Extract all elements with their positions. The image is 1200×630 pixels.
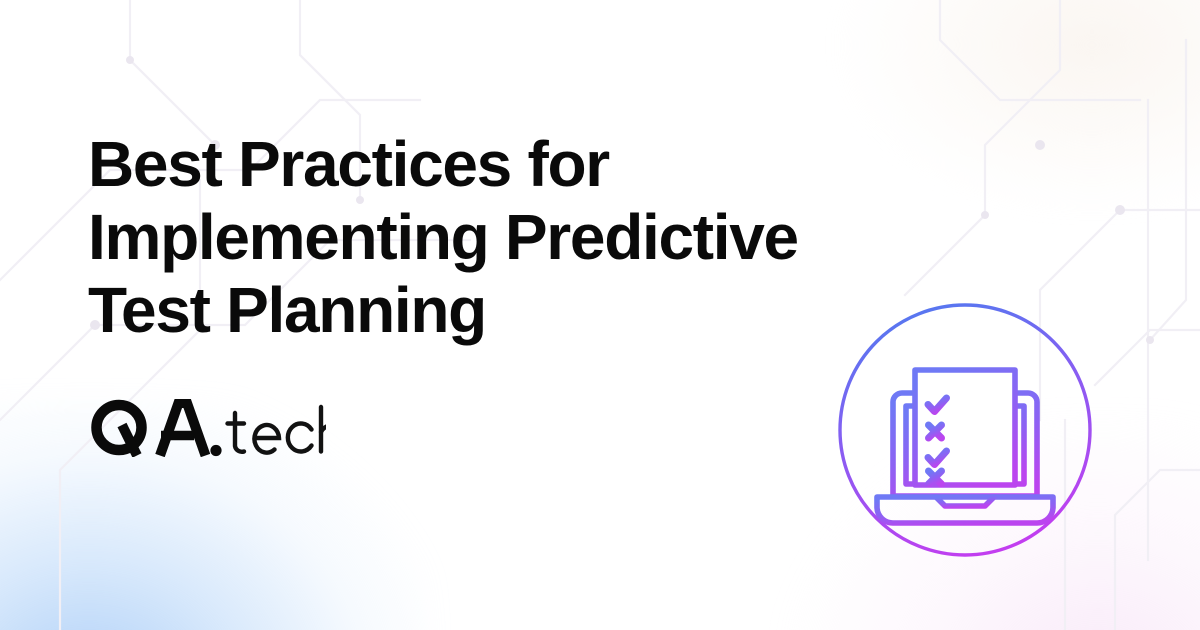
social-share-card: Best Practices for Implementing Predicti… bbox=[0, 0, 1200, 630]
laptop-checklist-icon bbox=[877, 370, 1053, 523]
page-title: Best Practices for Implementing Predicti… bbox=[88, 128, 918, 347]
qatech-wordmark-icon bbox=[88, 399, 326, 457]
checklist-laptop-emblem bbox=[836, 301, 1094, 559]
brand-logo[interactable] bbox=[88, 398, 326, 458]
